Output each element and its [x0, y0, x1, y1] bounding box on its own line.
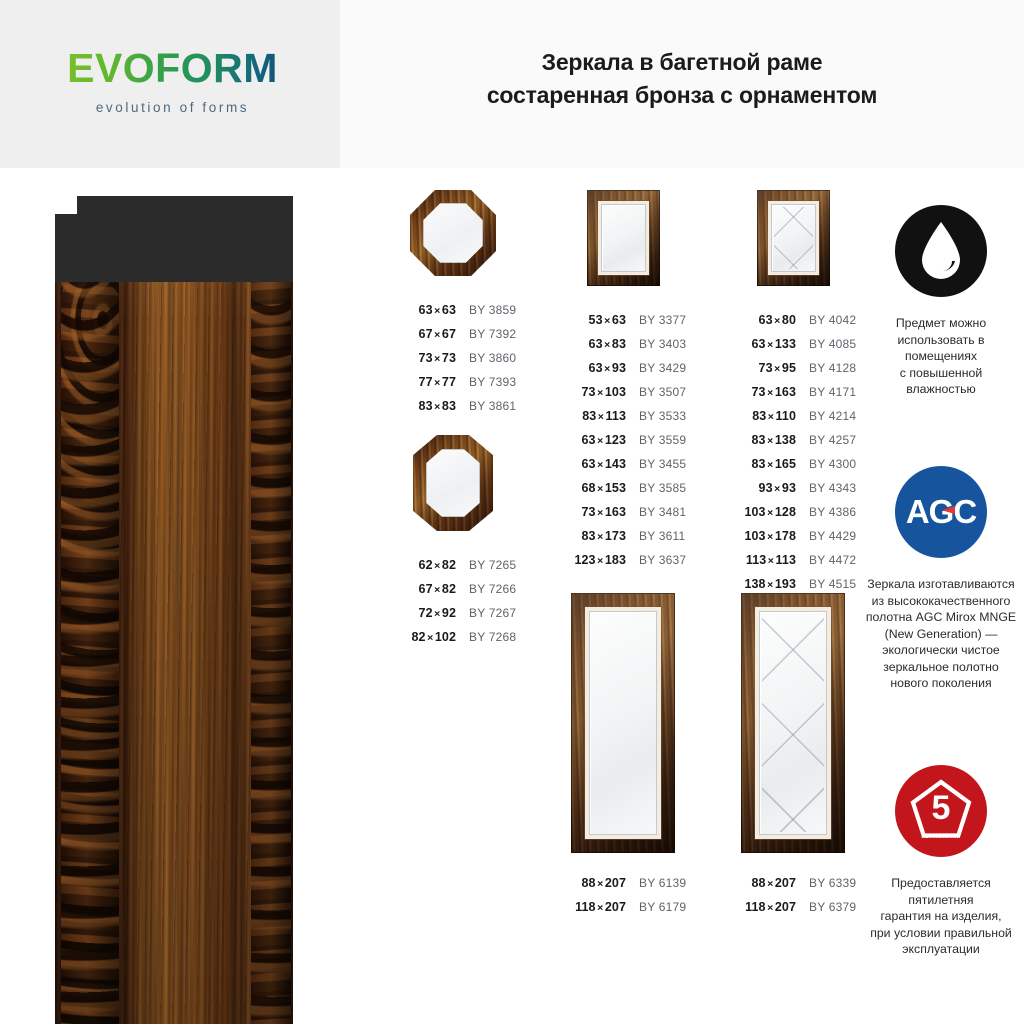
feature-text-line: Зеркала изготавливаются [856, 576, 1024, 593]
feature-text-line: (New Generation) — [856, 626, 1024, 643]
size-article-code: BY 7265 [456, 553, 516, 577]
page-title-line-2: состаренная бронза с орнаментом [340, 79, 1024, 112]
page-title-line-1: Зеркала в багетной раме [340, 46, 1024, 79]
size-row[interactable]: 73×95BY 4128 [718, 356, 868, 380]
size-article-code: BY 3507 [626, 380, 686, 404]
size-article-code: BY 3637 [626, 548, 686, 572]
size-row[interactable]: 88×207BY 6139 [548, 871, 698, 895]
agc-logo-text: AGC [895, 466, 987, 558]
size-row[interactable]: 73×163BY 3481 [548, 500, 698, 524]
size-dimensions: 93×93 [718, 476, 796, 501]
size-dimensions: 62×82 [378, 553, 456, 578]
size-dimensions: 72×92 [378, 601, 456, 626]
size-dimensions: 63×83 [548, 332, 626, 357]
size-row[interactable]: 63×83BY 3403 [548, 332, 698, 356]
size-dimensions: 73×163 [718, 380, 796, 405]
size-table-rect-plain: 53×63BY 3377 63×83BY 3403 63×93BY 3429 7… [548, 308, 698, 572]
size-dimensions: 123×183 [548, 548, 626, 573]
size-article-code: BY 4128 [796, 356, 856, 380]
feature-moisture: Предмет можно использовать в помещениях … [856, 205, 1024, 398]
feature-text-line: помещениях [856, 348, 1024, 365]
feature-text-line: зеркальное полотно [856, 659, 1024, 676]
size-dimensions: 118×207 [548, 895, 626, 920]
page-header: EVOFORM evolution of forms Зеркала в баг… [0, 0, 1024, 168]
size-row[interactable]: 83×173BY 3611 [548, 524, 698, 548]
warranty-sub-label: ЛЕТ ГАРАНТИИ [895, 834, 987, 839]
size-article-code: BY 6379 [796, 895, 856, 919]
feature-text-line: с повышенной [856, 365, 1024, 382]
agc-logo-icon: AGC [895, 466, 987, 558]
logo-panel: EVOFORM evolution of forms [0, 0, 340, 168]
size-row[interactable]: 77×77 BY 7393 [378, 370, 528, 394]
size-row[interactable]: 83×138BY 4257 [718, 428, 868, 452]
size-dimensions: 83×138 [718, 428, 796, 453]
size-article-code: BY 6139 [626, 871, 686, 895]
size-row[interactable]: 93×93BY 4343 [718, 476, 868, 500]
size-dimensions: 83×83 [378, 394, 456, 419]
mirror-image-octagon-small[interactable] [410, 190, 496, 276]
feature-text-line: Предмет можно [856, 315, 1024, 332]
size-row[interactable]: 63×80BY 4042 [718, 308, 868, 332]
size-dimensions: 83×165 [718, 452, 796, 477]
size-dimensions: 73×95 [718, 356, 796, 381]
size-row[interactable]: 73×163BY 4171 [718, 380, 868, 404]
feature-warranty-text: Предоставляется пятилетняя гарантия на и… [856, 875, 1024, 958]
size-article-code: BY 4386 [796, 500, 856, 524]
size-row[interactable]: 83×110BY 4214 [718, 404, 868, 428]
product-group-octagon-small: 63×63 BY 3859 67×67 BY 7392 73×73 BY 386… [378, 190, 528, 418]
size-article-code: BY 4085 [796, 332, 856, 356]
size-article-code: BY 7392 [456, 322, 516, 346]
size-dimensions: 73×103 [548, 380, 626, 405]
size-article-code: BY 4214 [796, 404, 856, 428]
feature-text-line: при условии правильной [856, 925, 1024, 942]
size-dimensions: 63×80 [718, 308, 796, 333]
size-row[interactable]: 123×183BY 3637 [548, 548, 698, 572]
feature-agc: AGC Зеркала изготавливаются из высококач… [856, 466, 1024, 692]
size-article-code: BY 7267 [456, 601, 516, 625]
size-row[interactable]: 103×128BY 4386 [718, 500, 868, 524]
size-article-code: BY 7393 [456, 370, 516, 394]
feature-text-line: нового поколения [856, 675, 1024, 692]
size-article-code: BY 4429 [796, 524, 856, 548]
size-article-code: BY 3403 [626, 332, 686, 356]
size-dimensions: 67×82 [378, 577, 456, 602]
size-row[interactable]: 113×113BY 4472 [718, 548, 868, 572]
size-dimensions: 73×73 [378, 346, 456, 371]
size-dimensions: 118×207 [718, 895, 796, 920]
feature-text-line: из высококачественного [856, 593, 1024, 610]
size-dimensions: 63×63 [378, 298, 456, 323]
size-dimensions: 63×123 [548, 428, 626, 453]
mirror-image-rect-plain[interactable] [587, 190, 660, 286]
size-dimensions: 68×153 [548, 476, 626, 501]
size-row[interactable]: 63×93BY 3429 [548, 356, 698, 380]
size-table-tall-plain: 88×207BY 6139 118×207BY 6179 [548, 871, 698, 919]
size-article-code: BY 3481 [626, 500, 686, 524]
size-article-code: BY 4300 [796, 452, 856, 476]
logo-tagline: evolution of forms [60, 100, 285, 115]
size-article-code: BY 3859 [456, 298, 516, 322]
size-article-code: BY 4343 [796, 476, 856, 500]
product-group-octagon-tall: 62×82 BY 7265 67×82 BY 7266 72×92 BY 726… [378, 435, 528, 649]
mirror-image-octagon-tall[interactable] [413, 435, 493, 531]
feature-text-line: экологически чистое [856, 642, 1024, 659]
feature-text-line: полотна AGC Mirox MNGE [856, 609, 1024, 626]
size-row[interactable]: 67×82 BY 7266 [378, 577, 528, 601]
size-article-code: BY 3611 [626, 524, 685, 548]
size-dimensions: 73×163 [548, 500, 626, 525]
feature-text-line: пятилетняя [856, 892, 1024, 909]
size-dimensions: 67×67 [378, 322, 456, 347]
size-dimensions: 88×207 [718, 871, 796, 896]
product-group-rect-facet: 63×80BY 4042 63×133BY 4085 73×95BY 4128 … [718, 190, 868, 596]
feature-agc-text: Зеркала изготавливаются из высококачеств… [856, 576, 1024, 692]
size-article-code: BY 6179 [626, 895, 686, 919]
size-row[interactable]: 103×178BY 4429 [718, 524, 868, 548]
feature-warranty: 5 ЛЕТ ГАРАНТИИ Предоставляется пятилетня… [856, 765, 1024, 958]
size-article-code: BY 4171 [796, 380, 856, 404]
size-dimensions: 53×63 [548, 308, 626, 333]
mirror-image-rect-facet[interactable] [757, 190, 830, 286]
feature-text-line: эксплуатации [856, 941, 1024, 958]
size-row[interactable]: 83×165BY 4300 [718, 452, 868, 476]
size-row[interactable]: 82×102 BY 7268 [378, 625, 528, 649]
size-dimensions: 63×133 [718, 332, 796, 357]
size-row[interactable]: 68×153BY 3585 [548, 476, 698, 500]
size-article-code: BY 4042 [796, 308, 856, 332]
size-row[interactable]: 63×133BY 4085 [718, 332, 868, 356]
size-row[interactable]: 53×63BY 3377 [548, 308, 698, 332]
size-article-code: BY 3429 [626, 356, 686, 380]
size-table-octagon-tall: 62×82 BY 7265 67×82 BY 7266 72×92 BY 726… [378, 553, 528, 649]
feature-text-line: влажностью [856, 381, 1024, 398]
feature-text-line: использовать в [856, 332, 1024, 349]
water-drop-icon [895, 205, 987, 297]
size-row[interactable]: 67×67 BY 7392 [378, 322, 528, 346]
size-article-code: BY 3860 [456, 346, 516, 370]
size-article-code: BY 4472 [796, 548, 856, 572]
feature-text-line: гарантия на изделия, [856, 908, 1024, 925]
size-article-code: BY 7268 [456, 625, 516, 649]
size-row[interactable]: 72×92 BY 7267 [378, 601, 528, 625]
size-row[interactable]: 63×63 BY 3859 [378, 298, 528, 322]
mirror-image-tall-plain[interactable] [571, 593, 675, 853]
size-dimensions: 63×143 [548, 452, 626, 477]
size-row[interactable]: 83×83 BY 3861 [378, 394, 528, 418]
size-article-code: BY 4257 [796, 428, 856, 452]
size-dimensions: 82×102 [378, 625, 456, 650]
feature-moisture-text: Предмет можно использовать в помещениях … [856, 315, 1024, 398]
size-article-code: BY 6339 [796, 871, 856, 895]
size-article-code: BY 3861 [456, 394, 516, 418]
size-row[interactable]: 62×82 BY 7265 [378, 553, 528, 577]
size-dimensions: 83×110 [718, 404, 796, 429]
size-article-code: BY 7266 [456, 577, 516, 601]
page-title: Зеркала в багетной раме состаренная брон… [340, 46, 1024, 112]
size-article-code: BY 3377 [626, 308, 686, 332]
title-panel: Зеркала в багетной раме состаренная брон… [340, 0, 1024, 168]
product-group-rect-plain: 53×63BY 3377 63×83BY 3403 63×93BY 3429 7… [548, 190, 698, 572]
product-group-tall-facet: 88×207BY 6339 118×207BY 6379 [718, 593, 868, 919]
logo-wordmark: EVOFORM [60, 48, 285, 89]
size-table-tall-facet: 88×207BY 6339 118×207BY 6379 [718, 871, 868, 919]
mirror-image-tall-facet[interactable] [741, 593, 845, 853]
product-group-tall-plain: 88×207BY 6139 118×207BY 6179 [548, 593, 698, 919]
size-article-code: BY 3559 [626, 428, 686, 452]
warranty-pentagon-icon: 5 ЛЕТ ГАРАНТИИ [895, 765, 987, 857]
size-row[interactable]: 88×207BY 6339 [718, 871, 868, 895]
size-dimensions: 83×113 [548, 404, 626, 429]
size-dimensions: 103×178 [718, 524, 796, 549]
moulding-sample-image [55, 186, 293, 1024]
size-row[interactable]: 63×143BY 3455 [548, 452, 698, 476]
brand-logo: EVOFORM evolution of forms [60, 48, 285, 115]
size-row[interactable]: 73×103BY 3507 [548, 380, 698, 404]
size-row[interactable]: 83×113BY 3533 [548, 404, 698, 428]
moulding-shading [55, 186, 293, 1024]
size-dimensions: 83×173 [548, 524, 626, 549]
size-article-code: BY 3585 [626, 476, 686, 500]
size-row[interactable]: 118×207BY 6179 [548, 895, 698, 919]
size-dimensions: 77×77 [378, 370, 456, 395]
size-dimensions: 103×128 [718, 500, 796, 525]
moulding-cut-edge [55, 186, 293, 282]
size-article-code: BY 3533 [626, 404, 686, 428]
size-dimensions: 88×207 [548, 871, 626, 896]
size-table-rect-facet: 63×80BY 4042 63×133BY 4085 73×95BY 4128 … [718, 308, 868, 596]
warranty-number: 5 [895, 765, 987, 857]
size-dimensions: 113×113 [718, 548, 796, 573]
size-article-code: BY 3455 [626, 452, 686, 476]
size-row[interactable]: 63×123BY 3559 [548, 428, 698, 452]
size-table-octagon-small: 63×63 BY 3859 67×67 BY 7392 73×73 BY 386… [378, 298, 528, 418]
size-row[interactable]: 73×73 BY 3860 [378, 346, 528, 370]
size-dimensions: 63×93 [548, 356, 626, 381]
size-row[interactable]: 118×207BY 6379 [718, 895, 868, 919]
feature-text-line: Предоставляется [856, 875, 1024, 892]
